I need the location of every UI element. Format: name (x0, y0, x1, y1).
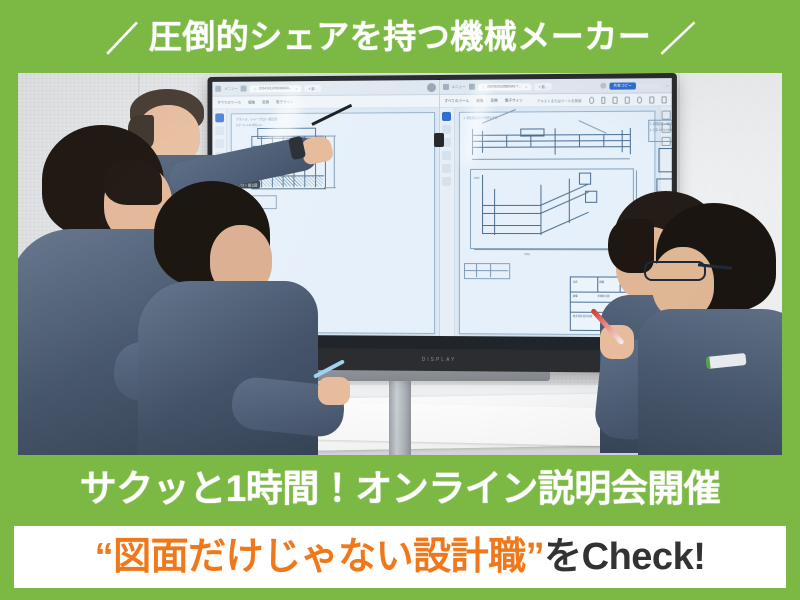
signature-tool-icon[interactable] (442, 177, 451, 186)
section-view-upper (658, 148, 672, 173)
title-block-row-3: 数量 (573, 294, 578, 298)
menu-item-edit-right[interactable]: 編集 (476, 98, 483, 103)
drive-unit (578, 173, 590, 185)
menu-item-esign-right[interactable]: 電子サイン (505, 98, 523, 103)
leader-line (578, 120, 606, 133)
conveyor-return-run (482, 233, 540, 234)
star-icon: ☆ (482, 84, 486, 89)
drawing-line (494, 189, 495, 235)
upload-icon[interactable] (613, 96, 618, 103)
slash-right-icon: ／ (660, 12, 697, 61)
page-view-icon[interactable] (601, 96, 606, 103)
drawing-callout: 1650 (474, 177, 480, 180)
print-icon[interactable] (625, 96, 630, 103)
person-attendee-4 (638, 203, 782, 455)
monitor-stand-neck (389, 369, 411, 455)
menu-item-convert-right[interactable]: 変換 (491, 98, 498, 103)
eyeglasses (644, 261, 706, 281)
poster-root: ＼ 圧倒的シェアを持つ機械メーカー ／ DISPLAY (0, 0, 800, 600)
drawing-line (506, 135, 507, 147)
drawing-detail-box (520, 128, 544, 136)
select-tool-icon[interactable] (442, 112, 451, 121)
window-close-icon[interactable]: × (666, 83, 668, 88)
revision-table (464, 263, 510, 279)
drawing-line (472, 129, 473, 155)
new-tab-button-right[interactable]: + 新... (535, 83, 552, 90)
cta-suffix-text: をCheck! (544, 538, 705, 576)
hand-holding-pen (318, 377, 350, 405)
close-icon[interactable]: × (525, 84, 527, 89)
comment-panel-icon[interactable] (662, 111, 671, 120)
browser-tab-right[interactable]: ☆ 202410110560343 7... × (478, 83, 532, 90)
torso (638, 309, 782, 455)
monitor-sensor-icon (434, 133, 444, 147)
drawing-line (621, 130, 622, 152)
cta-white-box[interactable]: “図面だけじゃない設計職” をCheck! (14, 526, 786, 588)
conveyor-center-line (472, 140, 630, 141)
paper-documents (318, 402, 619, 447)
share-badge[interactable]: 共有コピー (609, 82, 635, 89)
drawing-note-3: 3. 公差 JIS B 0405 中級 (650, 128, 672, 132)
hand (300, 134, 335, 166)
panel-icon[interactable] (662, 96, 667, 103)
drawing-line (629, 128, 630, 154)
hero-photo: DISPLAY メニュー ☆ 20241011050 (18, 73, 782, 455)
mid-green-band: サクッと1時間！オンライン説明会開催 (0, 455, 800, 521)
search-icon[interactable] (589, 96, 594, 103)
conveyor-return-run (482, 225, 540, 226)
drawing-line (603, 134, 604, 146)
cta-highlight-text: “図面だけじゃない設計職” (95, 538, 545, 576)
drawing-note-2: 2. 表面処理 一般塗装 (650, 122, 672, 126)
drawing-line (482, 131, 483, 153)
drawing-line (578, 134, 579, 146)
drawing-line (568, 179, 569, 223)
tab-title-right: 202410110560343 7... (487, 84, 521, 88)
shape-tool-icon[interactable] (442, 151, 451, 160)
drawing-line (482, 175, 483, 233)
slash-left-icon: ＼ (103, 12, 140, 61)
title-block-row-0: 品名 (573, 279, 578, 283)
mid-band-headline: サクッと1時間！オンライン説明会開催 (80, 470, 721, 507)
dimension-line (472, 158, 630, 159)
share-code: N8WX8Q (639, 83, 661, 88)
help-icon[interactable] (600, 83, 606, 89)
hamburger-icon[interactable] (442, 84, 448, 90)
settings-icon[interactable] (637, 96, 642, 103)
conveyor-top-rail (472, 134, 630, 136)
drawing-line (554, 128, 555, 154)
dimension-label: 7250 (524, 253, 530, 256)
stamp-tool-icon[interactable] (442, 164, 451, 173)
home-icon[interactable] (469, 84, 475, 90)
tab-bar-right: メニュー ☆ 202410110560343 7... × + 新... (439, 78, 671, 95)
conveyor-bottom-rail (472, 146, 630, 148)
person-attendee-2 (136, 181, 326, 455)
drawing-line (540, 185, 541, 235)
menu-item-all-tools-right[interactable]: すべてのツール (444, 98, 469, 103)
avatar[interactable] (427, 83, 436, 92)
conveyor-lower-run (482, 205, 540, 206)
menu-label-right[interactable]: メニュー (451, 84, 465, 89)
link-icon[interactable] (649, 96, 654, 103)
title-block-company: 株式会社設計技研 (573, 314, 592, 318)
search-input[interactable]: テキストまたはツールを検索 (537, 97, 582, 102)
top-banner: ＼ 圧倒的シェアを持つ機械メーカー ／ (0, 0, 800, 73)
top-banner-headline: 圧倒的シェアを持つ機械メーカー (149, 20, 652, 53)
conveyor-lower-run (482, 213, 540, 214)
